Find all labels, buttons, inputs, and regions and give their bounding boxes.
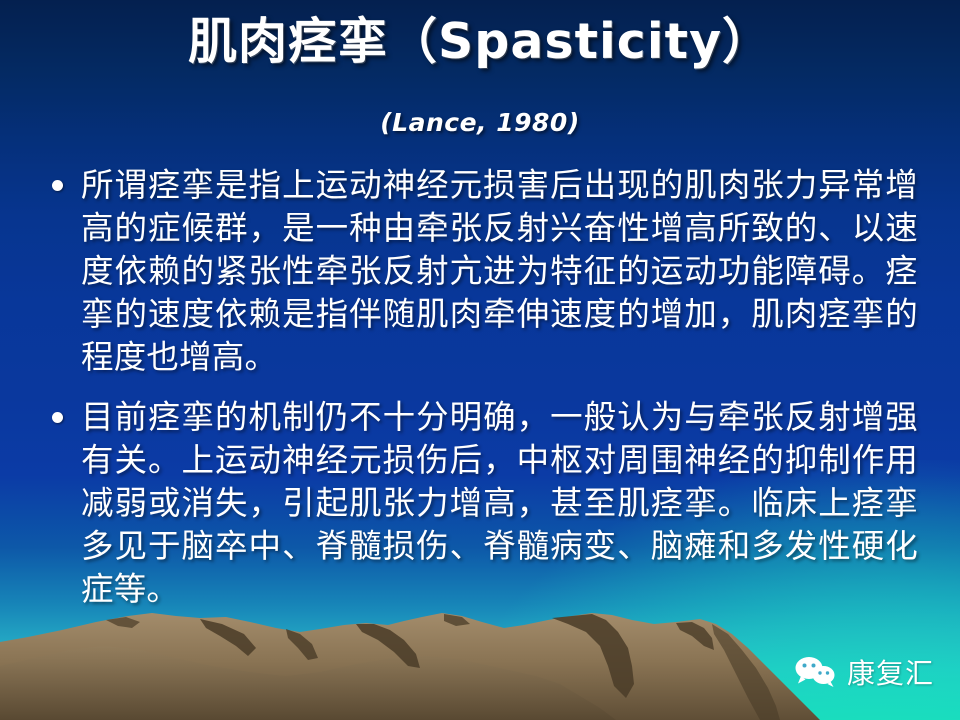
- bullet-item: 目前痉挛的机制仍不十分明确，一般认为与牵张反射增强有关。上运动神经元损伤后，中枢…: [52, 396, 918, 610]
- bullet-text: 目前痉挛的机制仍不十分明确，一般认为与牵张反射增强有关。上运动神经元损伤后，中枢…: [81, 396, 918, 610]
- bullet-dot-icon: [52, 412, 63, 423]
- slide-body: 所谓痉挛是指上运动神经元损害后出现的肌肉张力异常增高的症候群，是一种由牵张反射兴…: [52, 164, 918, 629]
- wechat-icon: [794, 656, 838, 688]
- watermark-label: 康复汇: [847, 652, 934, 692]
- bullet-text: 所谓痉挛是指上运动神经元损害后出现的肌肉张力异常增高的症候群，是一种由牵张反射兴…: [81, 164, 918, 378]
- bullet-item: 所谓痉挛是指上运动神经元损害后出现的肌肉张力异常增高的症候群，是一种由牵张反射兴…: [52, 164, 918, 378]
- watermark: 康复汇: [794, 652, 934, 692]
- slide-citation: (Lance, 1980): [0, 108, 960, 137]
- bullet-dot-icon: [52, 180, 63, 191]
- presentation-slide: 肌肉痉挛（Spasticity） (Lance, 1980) 所谓痉挛是指上运动…: [0, 0, 960, 720]
- slide-title: 肌肉痉挛（Spasticity）: [0, 14, 960, 70]
